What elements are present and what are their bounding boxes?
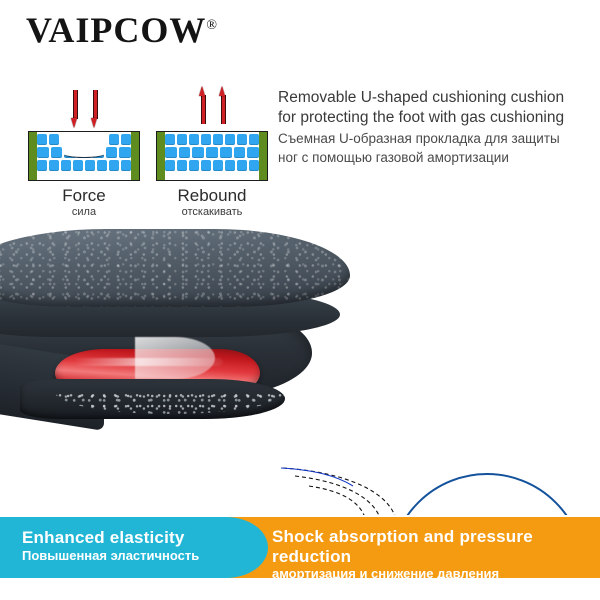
rebound-label-en: Rebound [156, 187, 268, 205]
rebound-arrows-up [156, 86, 268, 128]
arrow-down-icon [71, 90, 78, 128]
product-marketing-image: VAIPCOW® [0, 0, 600, 600]
headline-block: Removable U-shaped cushioning cushion fo… [278, 88, 590, 167]
registered-trademark-icon: ® [206, 18, 218, 33]
block-edge-left [29, 132, 37, 180]
banner-left-en: Enhanced elasticity [22, 528, 199, 548]
headline-ru-line2: ног с помощью газовой амортизации [278, 149, 590, 167]
cell-block-flat [156, 131, 268, 181]
force-rebound-diagram: Force сила [28, 86, 268, 206]
arrow-down-icon [91, 90, 98, 128]
block-edge-left [157, 132, 165, 180]
banner-right-en: Shock absorption and pressure reduction [272, 527, 600, 566]
headline-en-line2: for protecting the foot with gas cushion… [278, 108, 590, 128]
rebound-diagram: Rebound отскакивать [156, 86, 268, 219]
insole-product-image [0, 229, 350, 429]
brand-logo: VAIPCOW® [26, 12, 218, 48]
cell-block-compressed [28, 131, 140, 181]
feature-banner: Enhanced elasticity Повышенная эластично… [0, 517, 600, 578]
force-label-en: Force [28, 187, 140, 205]
banner-right-ru: амортизация и снижение давления [272, 566, 600, 582]
arrow-up-icon [199, 86, 206, 124]
product-photo [0, 215, 600, 515]
banner-left-ru: Повышенная эластичность [22, 548, 199, 564]
arrow-up-icon [219, 86, 226, 124]
cell-grid [165, 132, 259, 180]
headline-en-line1: Removable U-shaped cushioning cushion [278, 88, 590, 108]
banner-right-text: Shock absorption and pressure reduction … [272, 527, 600, 582]
insole-top-surface [0, 229, 350, 307]
headline-ru-line1: Съемная U-образная прокладка для защиты [278, 130, 590, 148]
banner-left-text: Enhanced elasticity Повышенная эластично… [22, 528, 199, 563]
brand-name: VAIPCOW [26, 10, 206, 50]
block-edge-right [131, 132, 139, 180]
block-edge-right [259, 132, 267, 180]
gel-clear-tip [135, 337, 215, 379]
force-arrows-down [28, 86, 140, 128]
force-diagram: Force сила [28, 86, 140, 219]
